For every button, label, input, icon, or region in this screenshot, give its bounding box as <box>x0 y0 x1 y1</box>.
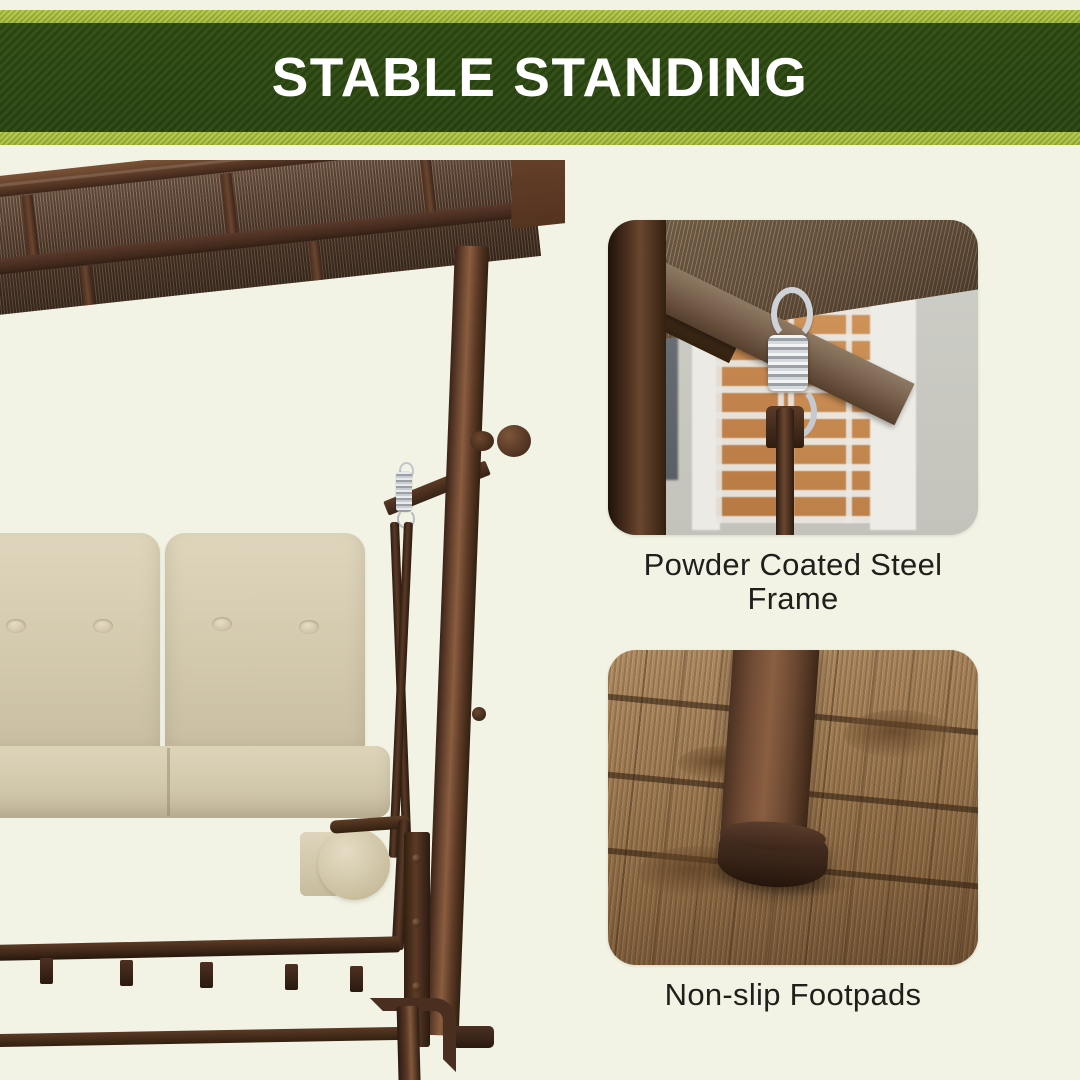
feature-image-steel-frame <box>608 220 978 535</box>
header-banner: STABLE STANDING <box>0 10 1080 158</box>
front-leg <box>397 1006 422 1080</box>
bracket-screw <box>412 854 421 863</box>
hanging-ring-icon <box>771 287 813 341</box>
back-cushion <box>0 533 160 761</box>
post-bolt <box>472 707 486 721</box>
cushion-button <box>93 619 113 633</box>
feature-caption: Powder Coated Steel Frame <box>608 548 978 616</box>
swing-leg <box>720 650 820 848</box>
seat-slat <box>285 964 298 990</box>
seat-slat <box>200 962 213 988</box>
feature-card-powder-coated-steel-frame: Powder Coated Steel Frame <box>608 220 978 616</box>
banner-top-stripe <box>0 10 1080 23</box>
cushion-button <box>6 619 26 633</box>
cushion-button <box>299 620 319 634</box>
powder-coated-post <box>608 220 666 535</box>
bracket-screw <box>412 918 421 927</box>
page-title: STABLE STANDING <box>272 50 809 105</box>
banner-bottom-stripe <box>0 132 1080 145</box>
lower-frame-bar <box>0 1027 420 1048</box>
post-foot-cap <box>452 1026 494 1048</box>
bracket-screw <box>412 982 421 991</box>
canopy-pivot-bolt <box>470 431 494 451</box>
feature-card-non-slip-footpads: Non-slip Footpads <box>608 650 978 1012</box>
feature-caption: Non-slip Footpads <box>608 978 978 1012</box>
seat-slat <box>40 958 53 984</box>
banner-core: STABLE STANDING <box>0 23 1080 132</box>
suspension-spring <box>396 472 412 512</box>
seat-slat <box>350 966 363 992</box>
seat-frame-rail <box>0 936 400 962</box>
cushion-button <box>212 617 232 631</box>
feature-image-footpad <box>608 650 978 965</box>
seat-slat <box>120 960 133 986</box>
canopy-adjust-knob <box>497 425 531 457</box>
swing-vertical-post <box>425 245 489 1036</box>
support-rod <box>776 408 794 535</box>
bolster-pillow <box>318 828 390 900</box>
wood-knot <box>844 710 954 758</box>
back-cushion <box>165 533 365 761</box>
steel-spring <box>768 335 808 391</box>
canopy-end-cap <box>511 160 565 229</box>
infographic-page: STABLE STANDING <box>0 0 1080 1080</box>
hero-product-image <box>0 160 565 1080</box>
seat-back-cushions <box>0 533 390 763</box>
seat-cushion-divider <box>167 748 170 816</box>
seat-cushion <box>0 746 390 818</box>
